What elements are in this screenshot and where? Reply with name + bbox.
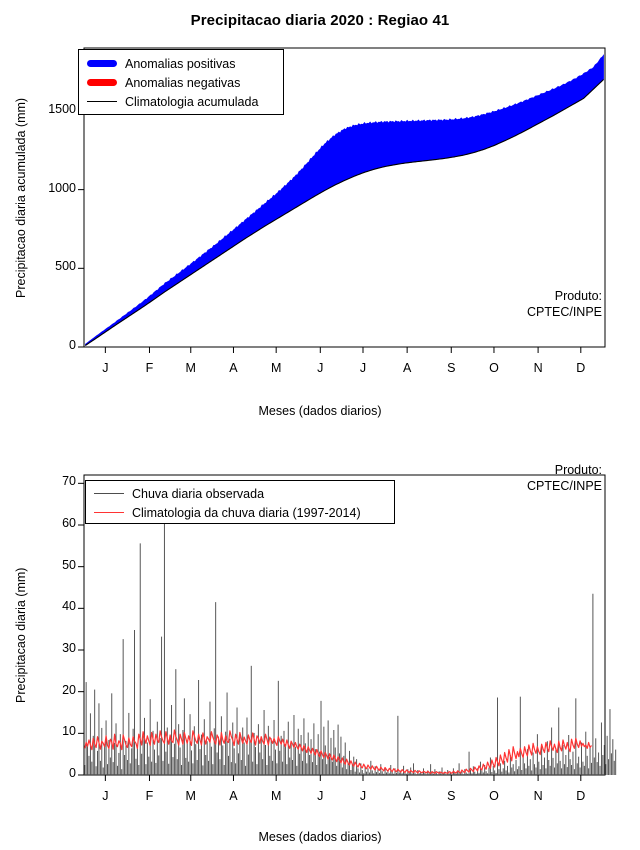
bottom-y-tick-5: 50 — [26, 558, 76, 572]
bottom-y-tick-4: 40 — [26, 599, 76, 613]
top-legend: Anomalias positivas Anomalias negativas … — [78, 49, 284, 115]
legend-item-anomalias-negativas: Anomalias negativas — [79, 73, 283, 92]
bottom-x-tick-5: J — [305, 789, 335, 803]
bottom-x-tick-0: J — [90, 789, 120, 803]
top-x-tick-6: J — [348, 361, 378, 375]
legend-label-anomalias-positivas: Anomalias positivas — [125, 57, 235, 71]
credit-line-2: CPTEC/INPE — [527, 304, 602, 320]
top-x-tick-5: J — [305, 361, 335, 375]
bottom-x-tick-9: O — [479, 789, 509, 803]
bottom-x-tick-4: M — [261, 789, 291, 803]
bottom-y-tick-3: 30 — [26, 641, 76, 655]
top-x-tick-11: D — [566, 361, 596, 375]
top-x-tick-4: M — [261, 361, 291, 375]
accumulated-precipitation-panel: Precipitacao diaria 2020 : Regiao 41 Pre… — [0, 0, 640, 430]
precipitation-report-page: Precipitacao diaria 2020 : Regiao 41 Pre… — [0, 0, 640, 850]
legend-label-climatologia-acumulada: Climatologia acumulada — [125, 95, 258, 109]
top-x-tick-2: M — [176, 361, 206, 375]
bottom-x-tick-1: F — [134, 789, 164, 803]
legend-item-anomalias-positivas: Anomalias positivas — [79, 54, 283, 73]
bottom-x-tick-10: N — [523, 789, 553, 803]
bottom-x-tick-6: J — [348, 789, 378, 803]
bottom-x-tick-11: D — [566, 789, 596, 803]
top-y-tick-2: 1000 — [26, 181, 76, 195]
bottom-x-tick-3: A — [218, 789, 248, 803]
top-y-tick-1: 500 — [26, 259, 76, 273]
bottom-y-tick-2: 20 — [26, 683, 76, 697]
top-x-tick-7: A — [392, 361, 422, 375]
credit-line-2-bottom: CPTEC/INPE — [527, 478, 602, 494]
top-y-tick-3: 1500 — [26, 102, 76, 116]
bottom-y-tick-6: 60 — [26, 516, 76, 530]
legend-item-climatologia-diaria: Climatologia da chuva diaria (1997-2014) — [86, 503, 394, 522]
bottom-legend: Chuva diaria observada Climatologia da c… — [85, 480, 395, 524]
blue-bar-icon — [79, 60, 125, 67]
top-x-tick-0: J — [90, 361, 120, 375]
legend-item-climatologia-acumulada: Climatologia acumulada — [79, 92, 283, 111]
bottom-x-tick-8: S — [436, 789, 466, 803]
legend-label-climatologia-diaria: Climatologia da chuva diaria (1997-2014) — [132, 506, 361, 520]
red-line-icon — [86, 512, 132, 513]
bottom-x-axis-label: Meses (dados diarios) — [0, 830, 640, 844]
legend-item-chuva-observada: Chuva diaria observada — [86, 484, 394, 503]
legend-label-chuva-observada: Chuva diaria observada — [132, 487, 264, 501]
bottom-y-tick-0: 0 — [26, 766, 76, 780]
bottom-y-tick-1: 10 — [26, 724, 76, 738]
bottom-y-tick-7: 70 — [26, 474, 76, 488]
credit-line-1-bottom: Produto: — [527, 462, 602, 478]
red-bar-icon — [79, 79, 125, 86]
legend-label-anomalias-negativas: Anomalias negativas — [125, 76, 240, 90]
top-x-tick-3: A — [218, 361, 248, 375]
black-line-icon — [79, 101, 125, 102]
top-y-tick-0: 0 — [26, 338, 76, 352]
top-x-tick-10: N — [523, 361, 553, 375]
bottom-x-tick-2: M — [176, 789, 206, 803]
top-x-tick-1: F — [134, 361, 164, 375]
gray-line-icon — [86, 493, 132, 494]
daily-precipitation-panel: Precipitacao diaria (mm) Meses (dados di… — [0, 430, 640, 850]
credit-block-top: Produto: CPTEC/INPE — [527, 288, 602, 320]
credit-line-1: Produto: — [527, 288, 602, 304]
top-x-tick-8: S — [436, 361, 466, 375]
credit-block-bottom: Produto: CPTEC/INPE — [527, 462, 602, 494]
top-x-tick-9: O — [479, 361, 509, 375]
top-x-axis-label: Meses (dados diarios) — [0, 404, 640, 418]
bottom-x-tick-7: A — [392, 789, 422, 803]
